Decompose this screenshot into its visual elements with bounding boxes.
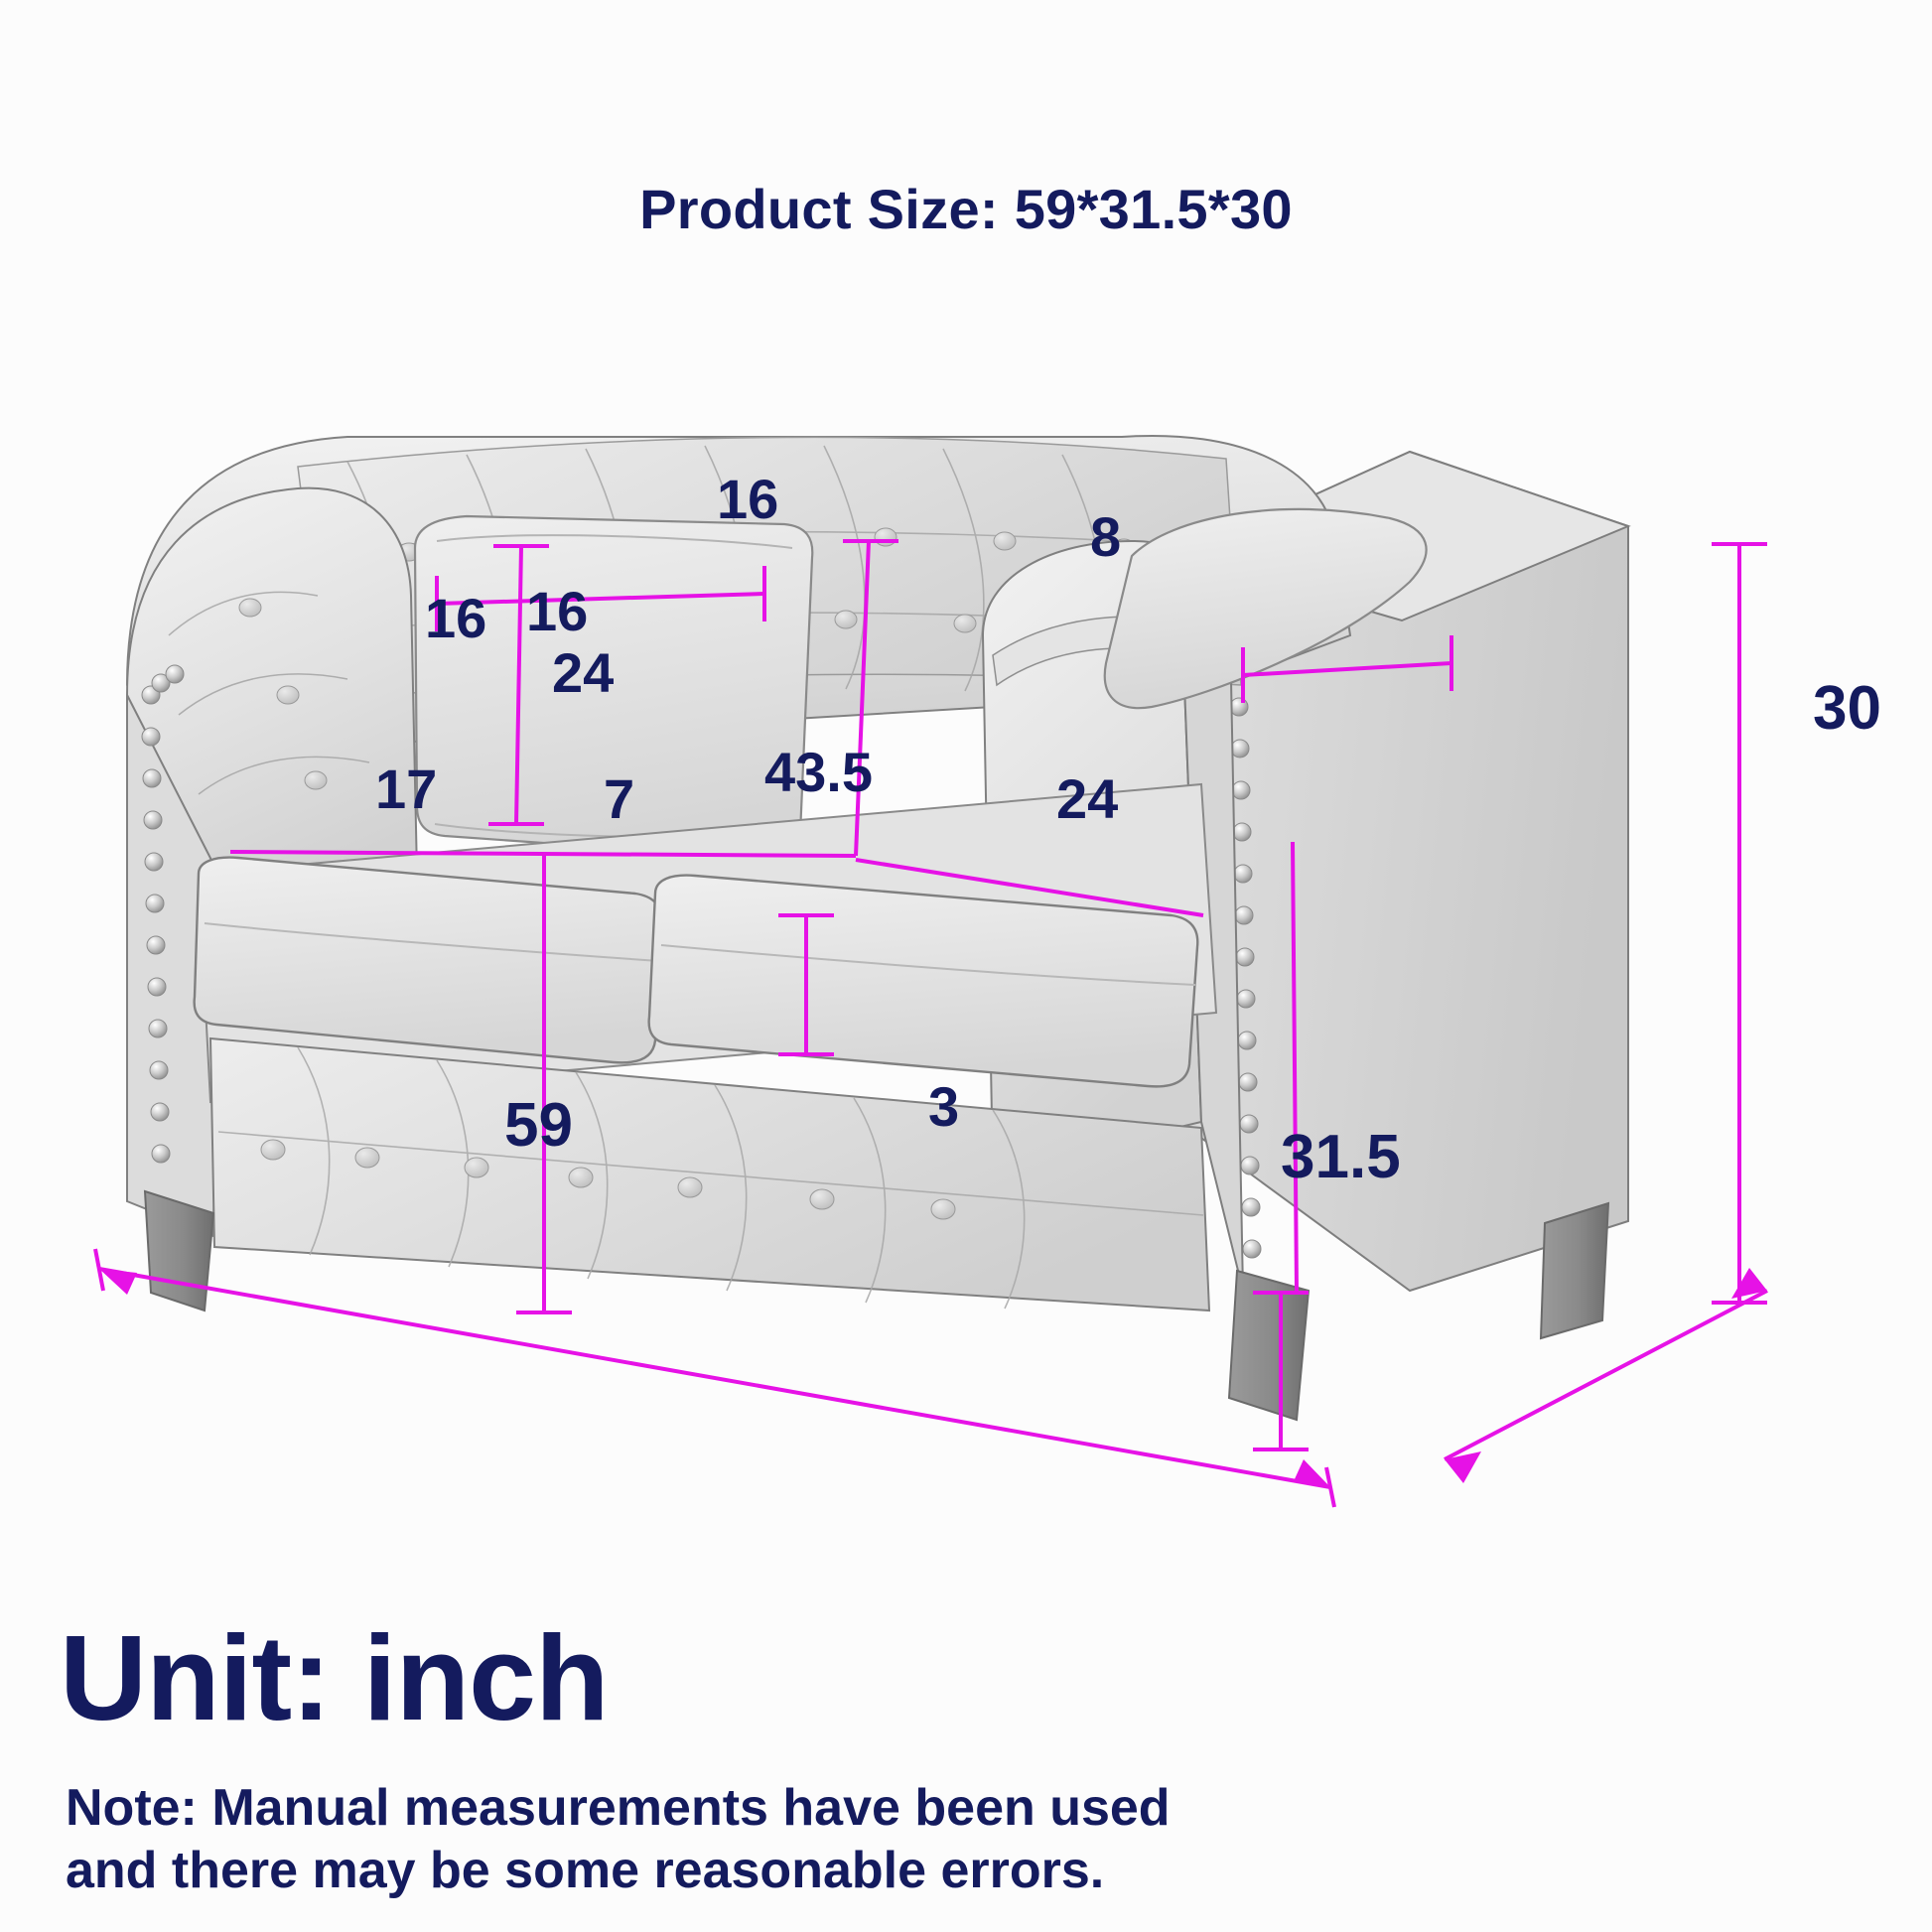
dim-label-backrest-height: 16: [717, 467, 778, 531]
unit-label: Unit: inch: [60, 1608, 608, 1747]
dim-label-seat-depth: 24: [552, 640, 614, 705]
dim-label-leg-height: 3: [928, 1074, 959, 1139]
note-line-2: and there may be some reasonable errors.: [66, 1842, 1104, 1899]
page-title: Product Size: 59*31.5*30: [0, 177, 1932, 241]
dim-label-pillow-height: 16: [425, 586, 486, 650]
leg-back-right: [1541, 1203, 1608, 1338]
dim-label-seat-width: 43.5: [764, 740, 873, 804]
dim-label-pillow-width: 16: [526, 579, 588, 643]
note-block: Note: Manual measurements have been used…: [66, 1777, 1171, 1903]
dim-label-arm-width: 8: [1090, 504, 1121, 569]
dim-label-overall-width: 59: [504, 1090, 573, 1161]
leg-front-left: [145, 1191, 213, 1311]
dim-label-cushion-thickness: 7: [604, 766, 634, 831]
dim-label-overall-height: 30: [1813, 673, 1881, 744]
sofa-body: [127, 436, 1628, 1420]
dimension-arrowheads: [99, 1268, 1767, 1487]
diagram-canvas: Product Size: 59*31.5*30 16 16 16 8 24 1…: [0, 0, 1932, 1932]
note-line-1: Note: Manual measurements have been used: [66, 1779, 1171, 1837]
dim-label-seat-height: 17: [375, 757, 437, 821]
dim-label-arm-height: 24: [1056, 766, 1118, 831]
dim-label-overall-depth: 31.5: [1281, 1122, 1401, 1192]
